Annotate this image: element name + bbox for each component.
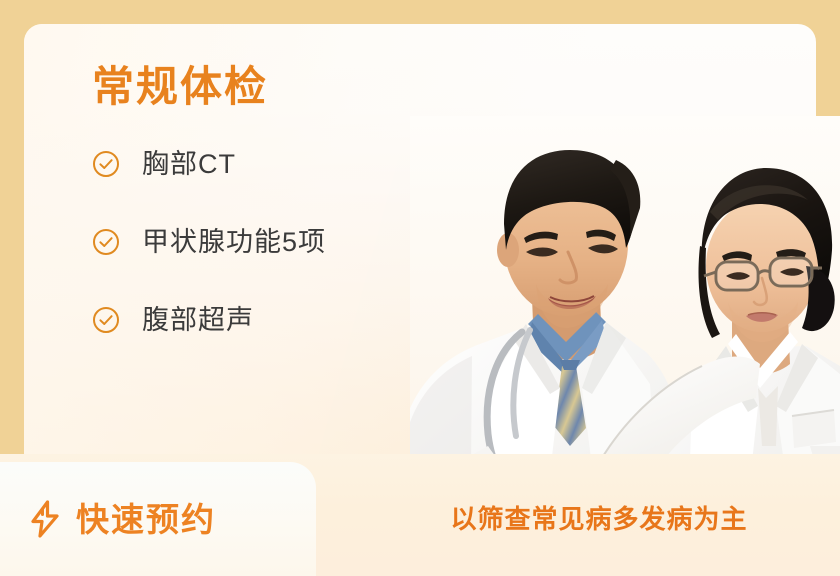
feature-label: 甲状腺功能5项	[142, 229, 326, 256]
list-item: 腹部超声	[92, 298, 326, 342]
quick-booking-button[interactable]: 快速预约	[0, 462, 316, 576]
list-item: 胸部CT	[92, 142, 326, 186]
check-circle-icon	[92, 150, 120, 178]
feature-list: 胸部CT 甲状腺功能5项 腹部超声	[92, 142, 326, 342]
list-item: 甲状腺功能5项	[92, 220, 326, 264]
feature-label: 胸部CT	[142, 151, 236, 178]
feature-label: 腹部超声	[142, 307, 254, 334]
check-circle-icon	[92, 306, 120, 334]
tagline-text: 以筛查常见病多发病为主	[408, 506, 747, 532]
tagline-panel: 以筛查常见病多发病为主	[316, 462, 840, 576]
page-title: 常规体检	[92, 66, 326, 108]
quick-booking-label: 快速预约	[76, 503, 216, 536]
footer-bar: 快速预约 以筛查常见病多发病为主	[0, 454, 840, 576]
health-checkup-promo-card: 常规体检 胸部CT 甲状腺功能5项	[0, 0, 840, 576]
check-circle-icon	[92, 228, 120, 256]
card-content: 常规体检 胸部CT 甲状腺功能5项	[92, 66, 326, 342]
lightning-bolt-icon	[28, 499, 62, 539]
